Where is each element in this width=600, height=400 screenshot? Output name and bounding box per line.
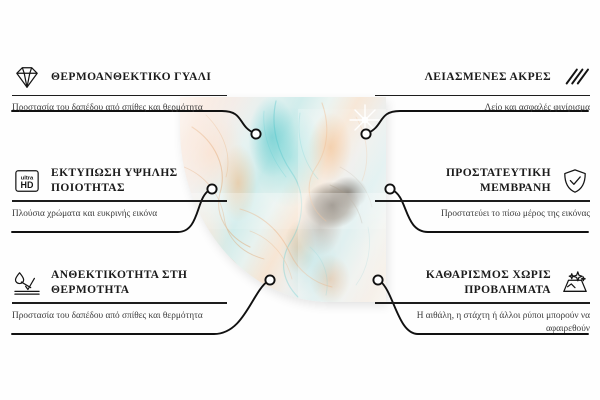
- feature-polished-edges[interactable]: ΛΕΙΑΣΜΕΝΕΣ ΑΚΡΕΣ Λείο και ασφαλές φινίρι…: [375, 64, 590, 116]
- feature-high-quality-print[interactable]: ultra HD ΕΚΤΥΠΩΣΗ ΥΨΗΛΗΣ ΠΟΙΟΤΗΤΑΣ Πλούσ…: [12, 166, 227, 221]
- feature-description: Προστασία του δαπέδου από σπίθες και θερ…: [12, 310, 227, 323]
- feature-divider: [375, 95, 590, 96]
- infographic-canvas: ΘΕΡΜΟΑΝΘΕΚΤΙΚΟ ΓΥΑΛΙ Προστασία του δαπέδ…: [0, 0, 600, 400]
- feature-header: ultra HD ΕΚΤΥΠΩΣΗ ΥΨΗΛΗΣ ΠΟΙΟΤΗΤΑΣ: [12, 166, 227, 195]
- feature-header: ΘΕΡΜΟΑΝΘΕΚΤΙΚΟ ΓΥΑΛΙ: [12, 64, 227, 90]
- svg-text:HD: HD: [21, 180, 34, 190]
- feature-description: Λείο και ασφαλές φινίρισμα: [375, 102, 590, 115]
- sparkle-cloth-icon: [560, 270, 590, 296]
- feature-description: Προστατεύει το πίσω μέρος της εικόνας: [375, 208, 590, 221]
- feature-divider: [12, 302, 227, 303]
- feature-title: ΛΕΙΑΣΜΕΝΕΣ ΑΚΡΕΣ: [425, 70, 551, 85]
- feature-description: Προστασία του δαπέδου από σπίθες και θερ…: [12, 102, 227, 115]
- feature-heat-resistant-glass[interactable]: ΘΕΡΜΟΑΝΘΕΚΤΙΚΟ ΓΥΑΛΙ Προστασία του δαπέδ…: [12, 64, 227, 116]
- feature-easy-cleaning[interactable]: ΚΑΘΑΡΙΣΜΟΣ ΧΩΡΙΣ ΠΡΟΒΛΗΜΑΤΑ Η αιθάλη, η …: [375, 268, 590, 336]
- feature-title: ΕΚΤΥΠΩΣΗ ΥΨΗΛΗΣ ΠΟΙΟΤΗΤΑΣ: [51, 166, 227, 195]
- feature-divider: [12, 95, 227, 96]
- feature-divider: [375, 200, 590, 201]
- feature-title: ΠΡΟΣΤΑΤΕΥΤΙΚΗ ΜΕΜΒΡΑΝΗ: [375, 166, 551, 195]
- feature-heat-durability[interactable]: ΑΝΘΕΚΤΙΚΟΤΗΤΑ ΣΤΗ ΘΕΡΜΟΤΗΤΑ Προστασία το…: [12, 268, 227, 323]
- shield-check-icon: [560, 168, 590, 194]
- ultra-hd-icon: ultra HD: [12, 168, 42, 194]
- heat-drop-check-icon: [12, 270, 42, 296]
- feature-header: ΛΕΙΑΣΜΕΝΕΣ ΑΚΡΕΣ: [375, 64, 590, 90]
- feature-description: Πλούσια χρώματα και ευκρινής εικόνα: [12, 208, 227, 221]
- feature-divider: [12, 200, 227, 201]
- feature-title: ΚΑΘΑΡΙΣΜΟΣ ΧΩΡΙΣ ΠΡΟΒΛΗΜΑΤΑ: [375, 268, 551, 297]
- feature-protective-membrane[interactable]: ΠΡΟΣΤΑΤΕΥΤΙΚΗ ΜΕΜΒΡΑΝΗ Προστατεύει το πί…: [375, 166, 590, 221]
- feature-description: Η αιθάλη, η στάχτη ή άλλοι ρύποι μπορούν…: [375, 310, 590, 336]
- feature-header: ΑΝΘΕΚΤΙΚΟΤΗΤΑ ΣΤΗ ΘΕΡΜΟΤΗΤΑ: [12, 268, 227, 297]
- diamond-icon: [12, 64, 42, 90]
- feature-title: ΑΝΘΕΚΤΙΚΟΤΗΤΑ ΣΤΗ ΘΕΡΜΟΤΗΤΑ: [51, 268, 227, 297]
- feature-header: ΠΡΟΣΤΑΤΕΥΤΙΚΗ ΜΕΜΒΡΑΝΗ: [375, 166, 590, 195]
- feature-header: ΚΑΘΑΡΙΣΜΟΣ ΧΩΡΙΣ ΠΡΟΒΛΗΜΑΤΑ: [375, 268, 590, 297]
- feature-divider: [375, 302, 590, 303]
- feature-title: ΘΕΡΜΟΑΝΘΕΚΤΙΚΟ ΓΥΑΛΙ: [51, 70, 211, 85]
- diagonal-lines-icon: [560, 64, 590, 90]
